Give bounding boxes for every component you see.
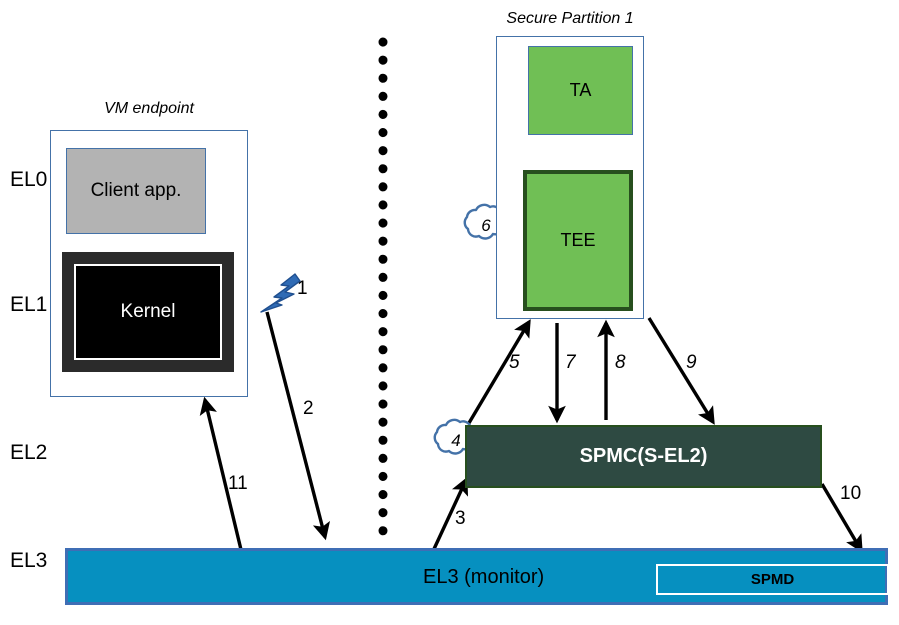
arrow-label-2: 2 (303, 398, 314, 420)
arrow-label-3: 3 (455, 508, 466, 530)
arrow-5 (466, 322, 529, 428)
spmd-label: SPMD (751, 571, 794, 588)
client-app-box[interactable]: Client app. (66, 148, 206, 234)
spmd-box[interactable]: SPMD (656, 564, 889, 595)
cloud-callout-6: 6 (462, 205, 510, 247)
kernel-box[interactable]: Kernel (62, 252, 234, 372)
exception-level-label-el2: EL2 (10, 441, 47, 465)
arrow-label-7: 7 (565, 352, 576, 374)
spmc-box[interactable]: SPMC(S-EL2) (465, 425, 822, 488)
el3-monitor-label: EL3 (monitor) (423, 566, 544, 589)
spmc-label: SPMC(S-EL2) (580, 445, 708, 468)
arrow-label-11: 11 (228, 473, 248, 495)
arrow-label-8: 8 (615, 352, 626, 374)
secure-partition-title: Secure Partition 1 (496, 10, 644, 28)
tee-box[interactable]: TEE (523, 170, 633, 311)
cloud-callout-6-label: 6 (462, 205, 510, 247)
vm-endpoint-title: VM endpoint (50, 100, 248, 118)
arrow-label-5: 5 (509, 352, 520, 374)
ta-box[interactable]: TA (528, 46, 633, 135)
client-app-label: Client app. (91, 180, 182, 202)
arrow-9 (649, 318, 713, 422)
arrow-label-9: 9 (686, 352, 697, 374)
kernel-inner-frame: Kernel (74, 264, 222, 360)
kernel-label: Kernel (121, 301, 176, 323)
lightning-bolt-icon (261, 274, 300, 312)
el3-monitor-bar[interactable]: EL3 (monitor) SPMD (65, 548, 888, 605)
architecture-diagram: EL0 EL1 EL2 EL3 VM endpoint Client app. … (0, 0, 899, 625)
ta-label: TA (570, 80, 592, 101)
arrow-label-10: 10 (840, 483, 861, 505)
exception-level-label-el3: EL3 (10, 549, 47, 573)
tee-label: TEE (560, 230, 595, 251)
arrow-label-1: 1 (297, 278, 308, 300)
exception-level-label-el0: EL0 (10, 168, 47, 192)
arrow-2 (267, 312, 325, 537)
exception-level-label-el1: EL1 (10, 293, 47, 317)
cloud-callout-4: 4 (432, 420, 480, 462)
cloud-callout-4-label: 4 (432, 420, 480, 462)
